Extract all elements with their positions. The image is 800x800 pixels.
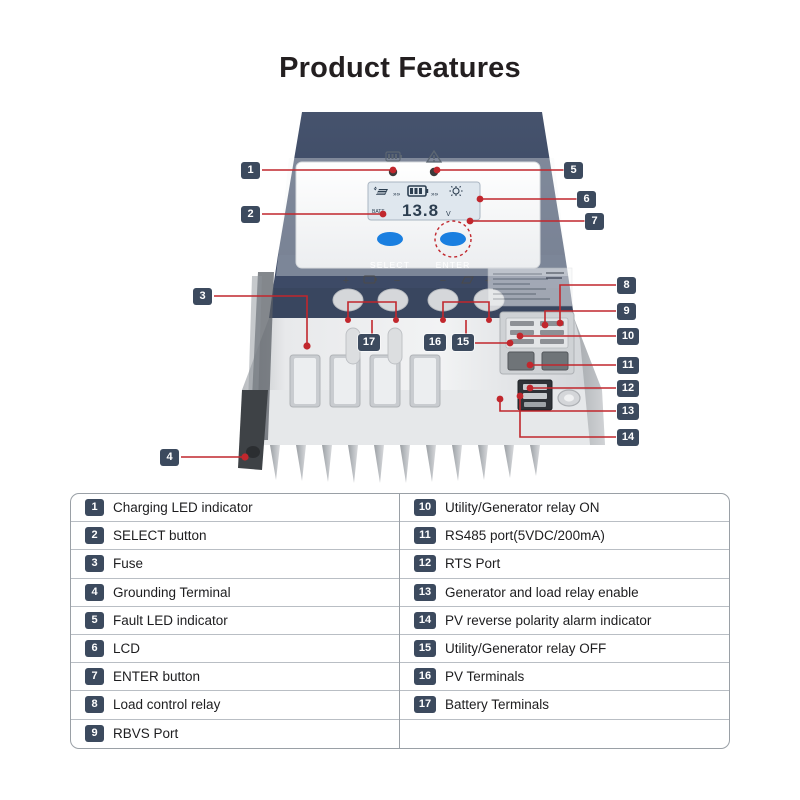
legend-label: RBVS Port — [113, 726, 178, 741]
callout-14: 14 — [617, 429, 639, 446]
enter-button — [440, 232, 466, 246]
svg-text:−: − — [394, 275, 400, 287]
legend-row: 15 Utility/Generator relay OFF — [400, 635, 729, 663]
legend-row: 12 RTS Port — [400, 550, 729, 578]
heat-sink-fins — [270, 445, 540, 483]
legend-badge: 10 — [414, 499, 436, 516]
legend-label: RTS Port — [445, 556, 500, 571]
legend-badge: 5 — [85, 612, 104, 629]
charging-led — [389, 168, 397, 176]
callout-17: 17 — [358, 334, 380, 351]
lcd-screen: »» »» BATT 13.8 V — [368, 182, 480, 220]
legend-badge: 12 — [414, 555, 436, 572]
callout-12: 12 — [617, 380, 639, 397]
page-title: Product Features — [0, 52, 800, 85]
callout-6: 6 — [577, 191, 596, 208]
callout-13: 13 — [617, 403, 639, 420]
legend-row: 5 Fault LED indicator — [71, 607, 399, 635]
svg-text:»»: »» — [393, 191, 401, 198]
legend-badge: 1 — [85, 499, 104, 516]
spec-label — [488, 268, 572, 306]
legend-row: 10 Utility/Generator relay ON — [400, 494, 729, 522]
legend-label: ENTER button — [113, 669, 200, 684]
select-button — [377, 232, 403, 246]
callout-16: 16 — [424, 334, 446, 351]
legend-row: 2 SELECT button — [71, 522, 399, 550]
legend-badge: 8 — [85, 696, 104, 713]
callout-11: 11 — [617, 357, 639, 374]
legend-row: 8 Load control relay — [71, 691, 399, 719]
legend-badge: 3 — [85, 555, 104, 572]
relay-terminal-block — [500, 312, 574, 374]
callout-7: 7 — [585, 213, 604, 230]
legend-row: 16 PV Terminals — [400, 663, 729, 691]
lcd-unit: V — [446, 211, 451, 218]
legend-row: 9 RBVS Port — [71, 720, 399, 748]
legend-label: SELECT button — [113, 528, 207, 543]
select-button-label: SELECT — [370, 260, 410, 270]
legend-row: 4 Grounding Terminal — [71, 579, 399, 607]
product-illustration: EPEVER — [150, 100, 650, 490]
fault-led — [430, 168, 438, 176]
legend-badge: 15 — [414, 640, 436, 657]
callout-9: 9 — [617, 303, 636, 320]
legend-label: PV Terminals — [445, 669, 524, 684]
feature-legend-table: 1 Charging LED indicator 2 SELECT button… — [70, 493, 730, 749]
legend-row: 17 Battery Terminals — [400, 691, 729, 719]
lcd-value: 13.8 — [402, 201, 439, 220]
legend-label: PV reverse polarity alarm indicator — [445, 613, 651, 628]
legend-badge: 2 — [85, 527, 104, 544]
enter-button-label: ENTER — [436, 260, 471, 270]
legend-column-left: 1 Charging LED indicator 2 SELECT button… — [71, 494, 400, 748]
legend-label: Utility/Generator relay OFF — [445, 641, 606, 656]
legend-badge: 16 — [414, 668, 436, 685]
legend-row: 14 PV reverse polarity alarm indicator — [400, 607, 729, 635]
callout-10: 10 — [617, 328, 639, 345]
callout-15: 15 — [452, 334, 474, 351]
legend-badge: 7 — [85, 668, 104, 685]
legend-row: 6 LCD — [71, 635, 399, 663]
legend-label: Battery Terminals — [445, 697, 549, 712]
legend-row: 11 RS485 port(5VDC/200mA) — [400, 522, 729, 550]
communication-ports — [518, 380, 552, 410]
grounding-terminal — [238, 390, 268, 470]
legend-label: LCD — [113, 641, 140, 656]
legend-row: 1 Charging LED indicator — [71, 494, 399, 522]
legend-badge: 11 — [414, 527, 436, 544]
lcd-batt-label: BATT — [372, 209, 384, 215]
svg-text:−: − — [440, 275, 446, 287]
legend-badge: 14 — [414, 612, 436, 629]
legend-column-right: 10 Utility/Generator relay ON 11 RS485 p… — [400, 494, 729, 748]
legend-row: 3 Fuse — [71, 550, 399, 578]
legend-badge: 6 — [85, 640, 104, 657]
svg-text:+: + — [343, 275, 349, 287]
callout-2: 2 — [241, 206, 260, 223]
legend-label: Load control relay — [113, 697, 220, 712]
callout-4: 4 — [160, 449, 179, 466]
legend-label: Fault LED indicator — [113, 613, 228, 628]
legend-badge: 17 — [414, 696, 436, 713]
callout-1: 1 — [241, 162, 260, 179]
legend-label: Fuse — [113, 556, 143, 571]
callout-8: 8 — [617, 277, 636, 294]
callout-3: 3 — [193, 288, 212, 305]
legend-label: Grounding Terminal — [113, 585, 231, 600]
product-features-page: Product Features — [0, 0, 800, 800]
legend-row: 13 Generator and load relay enable — [400, 579, 729, 607]
svg-text:»»: »» — [431, 191, 439, 198]
legend-label: Charging LED indicator — [113, 500, 253, 515]
legend-label: Utility/Generator relay ON — [445, 500, 600, 515]
callout-5: 5 — [564, 162, 583, 179]
legend-badge: 9 — [85, 725, 104, 742]
legend-label: RS485 port(5VDC/200mA) — [445, 528, 605, 543]
legend-row: 7 ENTER button — [71, 663, 399, 691]
legend-label: Generator and load relay enable — [445, 585, 639, 600]
legend-row-empty — [400, 720, 729, 748]
legend-badge: 4 — [85, 584, 104, 601]
legend-badge: 13 — [414, 584, 436, 601]
